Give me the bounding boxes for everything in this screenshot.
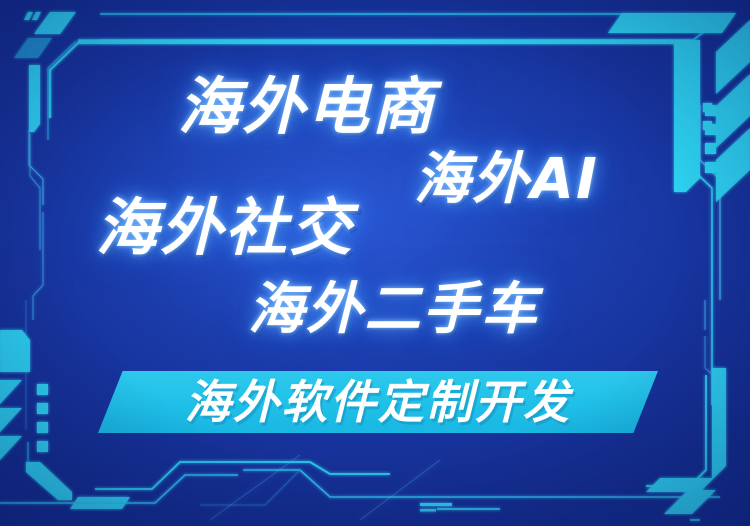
keyword-used-car: 海外二手车 [248, 282, 539, 338]
poster-canvas: 海外电商 海外AI 海外社交 海外二手车 海外软件定制开发 [0, 0, 750, 526]
keyword-social: 海外社交 [96, 197, 354, 259]
keyword-ai: 海外AI [414, 152, 599, 208]
headline-banner-label: 海外软件定制开发 [98, 371, 658, 433]
keyword-ecommerce: 海外电商 [178, 76, 436, 138]
headline-banner: 海外软件定制开发 [98, 371, 658, 433]
keyword-text-layer: 海外电商 海外AI 海外社交 海外二手车 [0, 0, 750, 526]
